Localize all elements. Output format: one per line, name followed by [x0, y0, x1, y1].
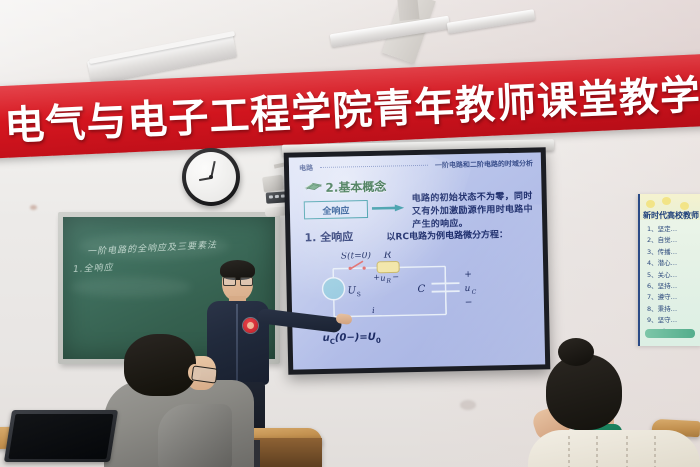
student-left [96, 334, 256, 467]
poster-item: 9、坚守… [647, 315, 700, 326]
poster-list: 1、坚定… 2、自觉… 3、传播… 4、潜心… 5、关心… 6、坚持… 7、遵守… [647, 224, 700, 338]
student-right-hair [546, 354, 622, 430]
svg-text:u: u [380, 274, 385, 283]
poster-item: 5、关心… [647, 270, 700, 281]
poster-item: 6、坚持… [647, 281, 700, 292]
poster-item: 7、遵守… [647, 292, 700, 303]
svg-text:+: + [373, 273, 380, 282]
poster-item: 1、坚定… [647, 224, 700, 235]
control-button[interactable] [275, 195, 279, 198]
blackboard-text-line-2: 1.全响应 [73, 260, 114, 275]
svg-text:S(t=0): S(t=0) [341, 250, 372, 262]
chalk-smudge [71, 277, 191, 297]
glasses-lens-left [223, 277, 236, 286]
laptop-display [8, 414, 113, 459]
poster-dot [680, 202, 689, 210]
sweater-knit-line [654, 436, 656, 467]
poster-dot [662, 197, 671, 205]
laptop-screen[interactable] [4, 410, 118, 462]
ceiling-fan-hub [396, 0, 419, 21]
slide-header: 电路 一阶电路和二阶电路的时域分析 [299, 157, 533, 175]
slide-header-left: 电路 [299, 163, 313, 173]
book-icon [304, 181, 322, 191]
classroom-photo: 电气与电子工程学院青年教师课堂教学 一阶电路的全响应及三要素法 1.全响应 [0, 0, 700, 467]
wall-clock [182, 148, 240, 206]
control-button[interactable] [269, 195, 273, 198]
svg-text:S: S [357, 291, 361, 298]
svg-text:+: + [464, 270, 472, 280]
svg-text:i: i [372, 306, 375, 315]
poster-title: 新时代高校教师 [643, 210, 699, 221]
header-rule [320, 165, 428, 168]
teacher-pointing-arm [257, 308, 342, 333]
poster-item: 8、秉持… [647, 304, 700, 315]
concept-term-box: 全响应 [304, 200, 368, 219]
slide-definition-text: 电路的初始状态不为零，同时又有外加激励源作用时电路中产生的响应。 [412, 191, 537, 233]
wall-scuff [460, 400, 476, 410]
wall-poster: 新时代高校教师 1、坚定… 2、自觉… 3、传播… 4、潜心… 5、关心… 6、… [638, 194, 700, 346]
poster-item: 4、潜心… [647, 258, 700, 269]
poster-item: 2、自觉… [647, 235, 700, 246]
clock-face [186, 152, 236, 202]
svg-text:−: − [465, 298, 473, 308]
arrow-right-icon [372, 204, 406, 212]
student-right-hair-bun [558, 338, 594, 366]
svg-text:u: u [464, 284, 470, 294]
poster-item: 3、传播… [647, 247, 700, 258]
laptop[interactable] [0, 410, 116, 467]
sweater-knit-line [626, 436, 628, 467]
slide-header-right: 一阶电路和二阶电路的时域分析 [435, 158, 533, 170]
slide-section-heading: 2.基本概念 [325, 178, 386, 196]
slide-item-note: 以RC电路为例电路微分方程： [386, 227, 508, 243]
svg-text:U: U [347, 285, 356, 296]
svg-text:C: C [472, 289, 477, 296]
svg-text:C: C [417, 284, 425, 295]
wall-speaker [262, 175, 284, 193]
jacket-emblem [243, 318, 258, 333]
poster-dot [646, 200, 655, 208]
sweater-knit-line [568, 436, 570, 467]
student-right-sweater [528, 430, 700, 467]
glasses-icon [223, 277, 252, 284]
student-right [522, 336, 700, 467]
svg-text:R: R [383, 250, 392, 261]
slide-item-number: 1. 全响应 [304, 228, 353, 245]
clock-glass-glare [186, 152, 236, 202]
student-left-hair [124, 334, 196, 396]
eq-sub-zero: 0 [376, 337, 381, 345]
svg-text:−: − [392, 272, 399, 281]
sweater-knit-line [596, 436, 598, 467]
student-left-coat-fold [158, 404, 232, 467]
glasses-lens-right [240, 277, 253, 286]
wall-scuff [30, 205, 37, 210]
svg-text:R: R [385, 278, 391, 285]
